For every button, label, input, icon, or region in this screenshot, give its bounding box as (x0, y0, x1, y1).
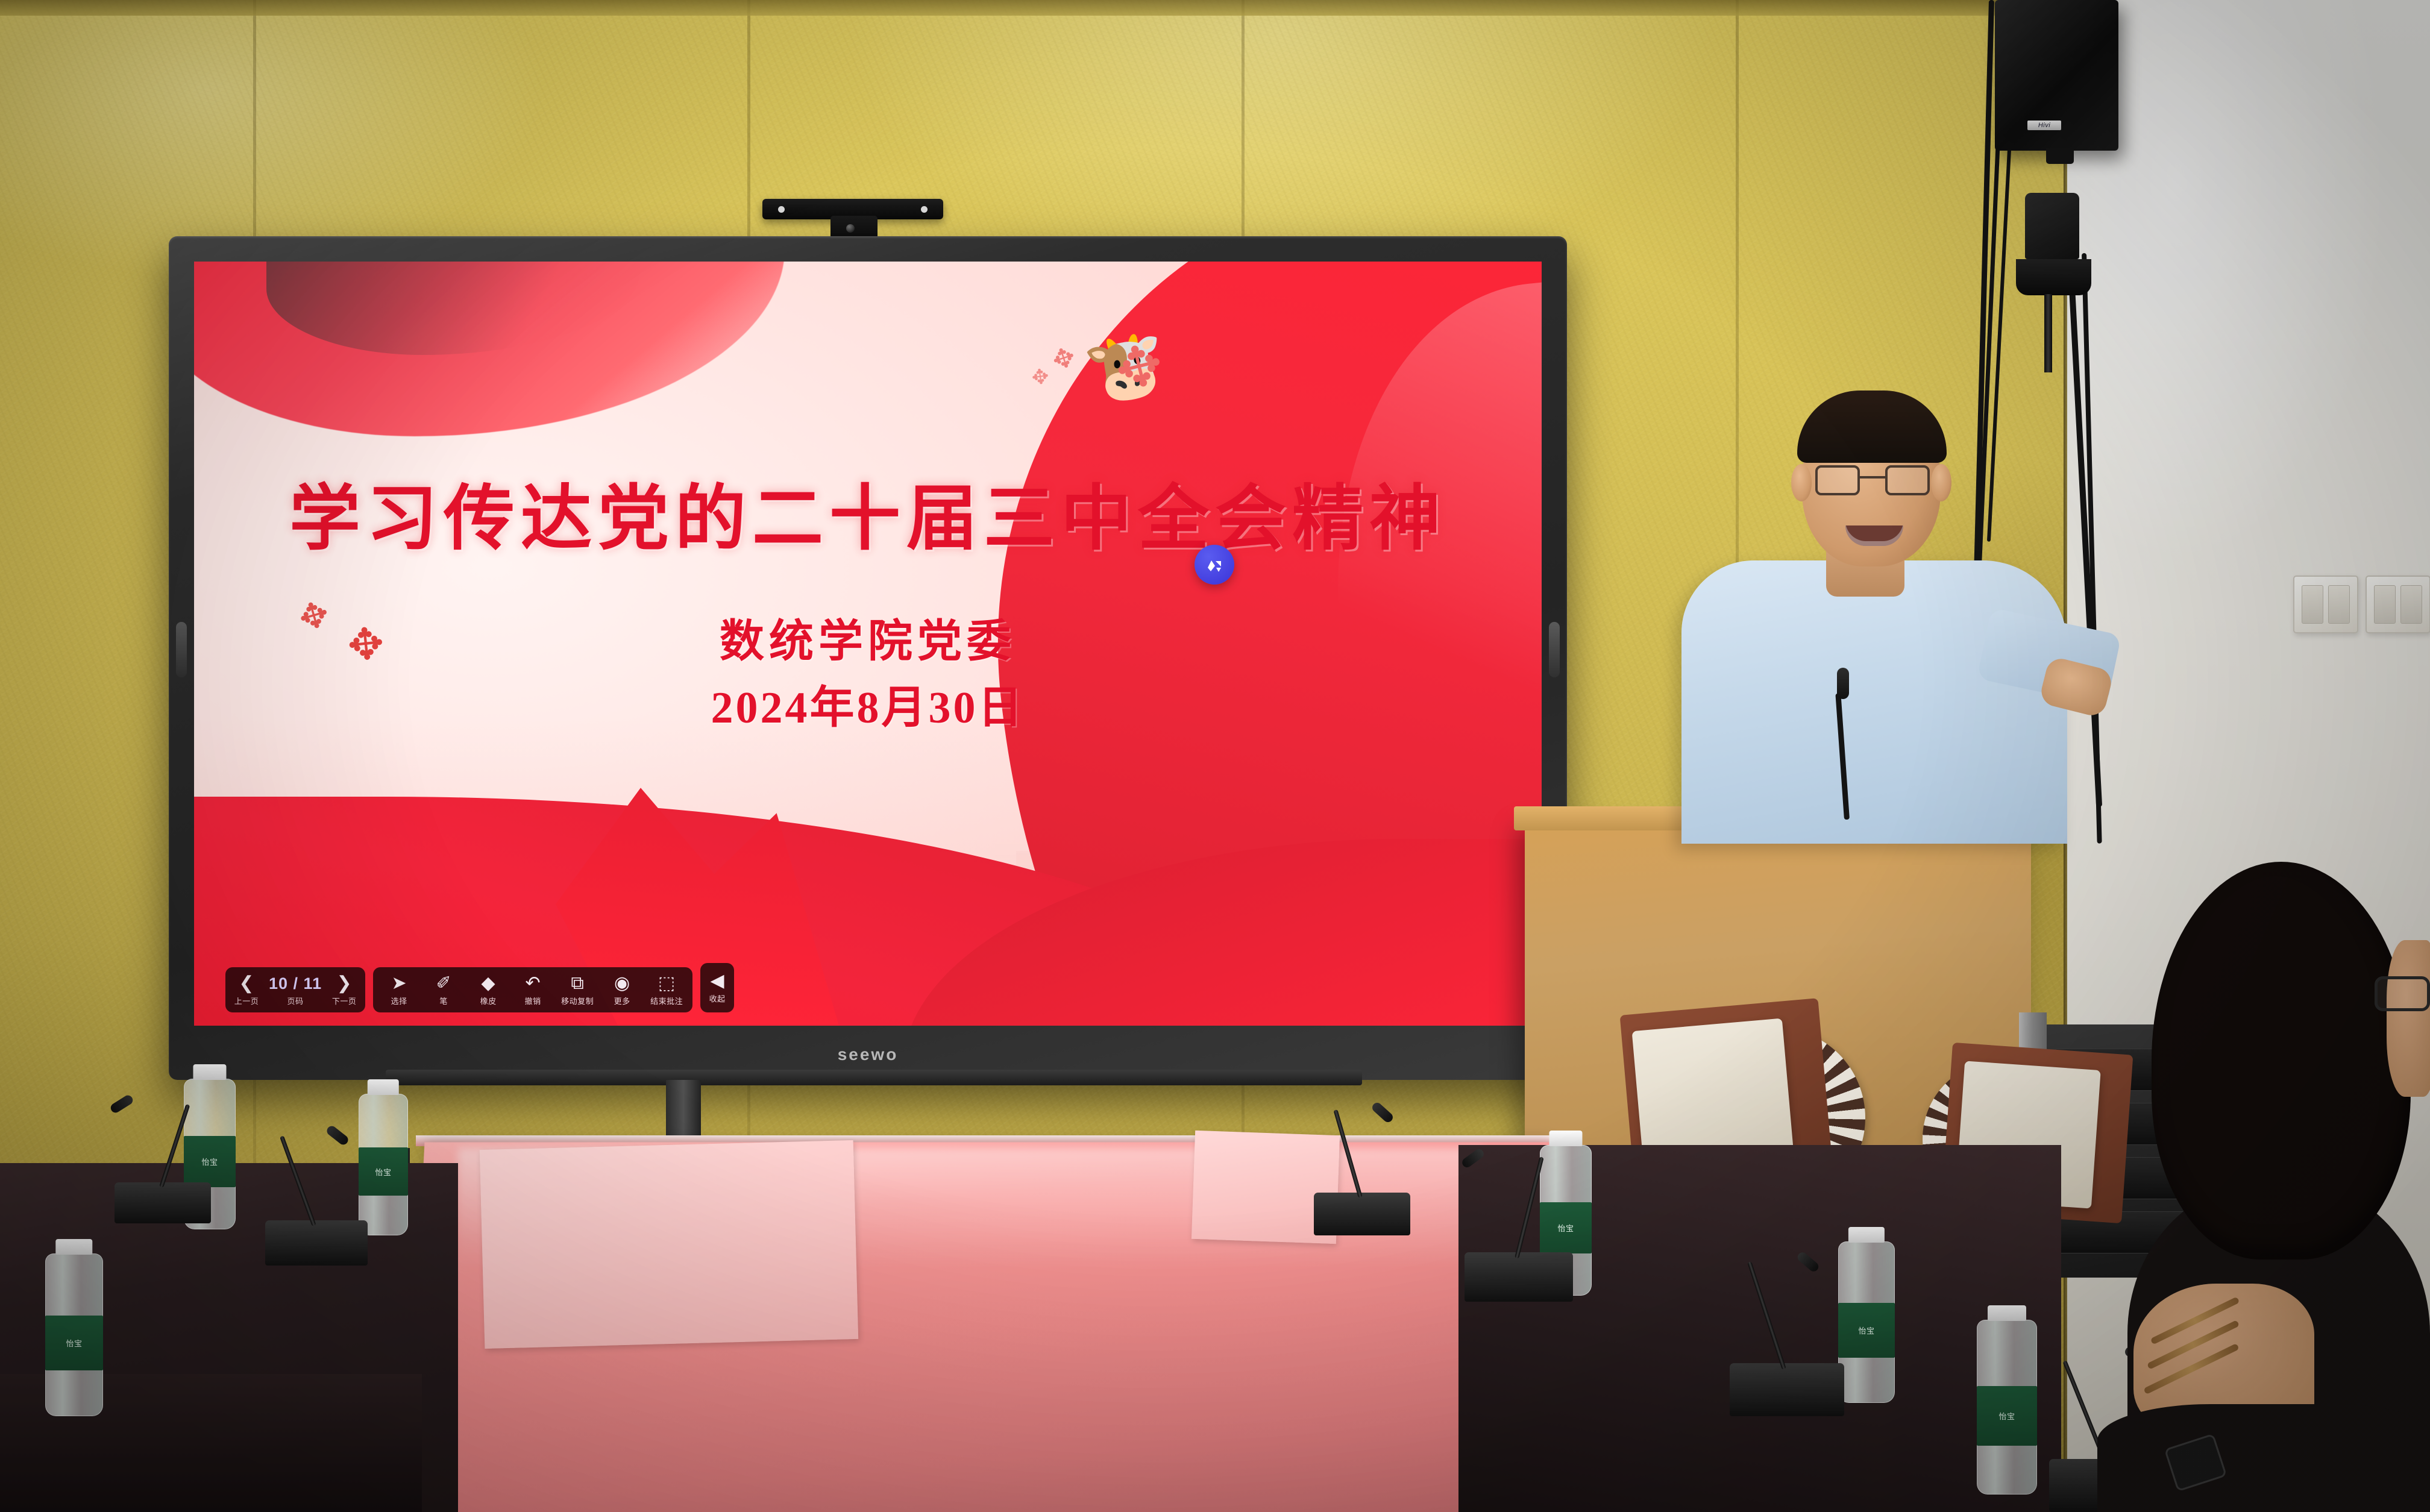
display-side-button[interactable] (176, 622, 187, 677)
chevron-right-icon: ❯ (337, 974, 352, 993)
podium-microphone-head (1837, 668, 1849, 699)
microphone-gooseneck (1748, 1261, 1787, 1370)
bottle-brand-text: 怡宝 (1998, 1410, 2015, 1422)
tool-exit-annotation-button[interactable]: ⬚ 结束批注 (644, 971, 689, 1008)
dove-icon: ✥ (1049, 343, 1079, 375)
tool-pen-label: 笔 (439, 995, 448, 1006)
microphone-base (1730, 1363, 1844, 1416)
tool-select-button[interactable]: ➤ 选择 (377, 971, 421, 1008)
presenter-shirt (1681, 560, 2067, 844)
display-side-button[interactable] (1549, 622, 1560, 677)
annotation-toolbar[interactable]: ❮ 上一页 10 / 11 页码 ❯ 下一页 (225, 963, 734, 1012)
camera-lens-icon (846, 224, 855, 233)
undo-icon: ↶ (526, 974, 541, 993)
exit-annotation-icon: ⬚ (658, 974, 675, 993)
ceiling-mic-pod (2025, 193, 2079, 259)
light-switch-plate[interactable] (2366, 576, 2430, 633)
bottle-brand-text: 怡宝 (66, 1337, 82, 1349)
display-screen[interactable]: 🐮 ✥ ✥ ✥ ✥ ✥ 学习传达党的二十届三中全会精神 数统学院党委 2024年… (194, 262, 1542, 1026)
water-bottle[interactable]: 怡宝 (1838, 1241, 1895, 1403)
water-bottle[interactable]: 怡宝 (1977, 1320, 2037, 1495)
bottle-cap (1988, 1305, 2026, 1321)
bottle-cap (55, 1239, 92, 1255)
seated-person-face (2387, 940, 2430, 1097)
conference-microphone[interactable] (1465, 1157, 1573, 1302)
chevron-left-icon: ❮ (239, 974, 254, 993)
microphone-gooseneck (1333, 1109, 1362, 1198)
display-brand-label: seewo (838, 1045, 899, 1064)
microphone-gooseneck (159, 1104, 190, 1188)
meeting-room-scene: Hivi seewo (0, 0, 2430, 1512)
collapse-left-icon: ◀ (711, 971, 724, 991)
microphone-gooseneck (280, 1135, 316, 1226)
tools-group[interactable]: ➤ 选择 ✐ 笔 ◆ 橡皮 (373, 967, 692, 1012)
bottle-cap (1549, 1131, 1582, 1146)
tool-exit-annotation-label: 结束批注 (650, 995, 683, 1006)
next-page-label: 下一页 (332, 995, 357, 1006)
light-switch-rocker[interactable] (2328, 585, 2350, 624)
dove-icon: ✥ (1031, 366, 1050, 389)
glasses-bridge (1860, 476, 1885, 478)
collapse-toolbar-label: 收起 (709, 993, 726, 1004)
paper-document[interactable] (480, 1140, 858, 1349)
speaker-bracket (2046, 148, 2074, 164)
bottle-brand-text: 怡宝 (375, 1166, 391, 1178)
interactive-display[interactable]: seewo (169, 236, 1567, 1080)
presentation-slide[interactable]: 🐮 ✥ ✥ ✥ ✥ ✥ 学习传达党的二十届三中全会精神 数统学院党委 2024年… (194, 262, 1542, 1026)
glasses-right-lens (1885, 465, 1930, 495)
presenter-ear (1931, 464, 1951, 501)
bottle-cap (368, 1079, 399, 1095)
microphone-base (1314, 1193, 1410, 1235)
bottle-cap (193, 1064, 226, 1080)
light-switch-rocker[interactable] (2302, 585, 2323, 624)
next-page-button[interactable]: ❯ 下一页 (327, 971, 362, 1008)
display-stand-beam (386, 1070, 1362, 1085)
seated-person-hair (2152, 862, 2411, 1259)
microphone-base (265, 1220, 368, 1266)
prev-page-label: 上一页 (234, 995, 259, 1006)
conference-microphone[interactable] (1730, 1259, 1844, 1416)
cursor-select-icon: ➤ (392, 974, 407, 993)
seated-person-glasses (2375, 976, 2430, 1011)
ceiling-trim (0, 0, 2067, 16)
tool-undo-button[interactable]: ↶ 撤销 (510, 971, 555, 1008)
presenter-ear (1791, 464, 1812, 501)
tool-eraser-button[interactable]: ◆ 橡皮 (466, 971, 510, 1008)
page-indicator-label: 页码 (287, 995, 304, 1006)
microphone-base (115, 1182, 211, 1223)
microphone-gooseneck (1515, 1156, 1544, 1258)
bottle-label: 怡宝 (45, 1316, 103, 1371)
bottle-label: 怡宝 (1838, 1303, 1895, 1358)
wall-speaker: Hivi (1995, 0, 2118, 151)
prev-page-button[interactable]: ❮ 上一页 (229, 971, 264, 1008)
light-switch-rocker[interactable] (2400, 585, 2422, 624)
seated-person-shoulder (2097, 1404, 2430, 1512)
tool-move-copy-label: 移动复制 (561, 995, 594, 1006)
conference-microphone[interactable] (115, 1103, 211, 1223)
tool-undo-label: 撤销 (525, 995, 541, 1006)
light-switch-plate[interactable] (2293, 576, 2358, 633)
display-bezel: seewo (169, 236, 1567, 1080)
microphone-base (1465, 1252, 1573, 1302)
tool-select-label: 选择 (391, 995, 407, 1006)
page-nav-group[interactable]: ❮ 上一页 10 / 11 页码 ❯ 下一页 (225, 967, 365, 1012)
bottle-cap (1848, 1227, 1885, 1243)
ceiling-mic-arm (2044, 294, 2052, 372)
tool-more-label: 更多 (614, 995, 630, 1006)
water-bottle[interactable]: 怡宝 (45, 1253, 103, 1416)
collapse-toolbar-button[interactable]: ◀ 收起 (700, 963, 734, 1012)
tool-pen-button[interactable]: ✐ 笔 (421, 971, 466, 1008)
bottle-label: 怡宝 (1977, 1386, 2037, 1446)
more-icon: ◉ (614, 974, 630, 993)
slide-subtitle: 数统学院党委 (194, 605, 1542, 670)
tool-move-copy-button[interactable]: ⧉ 移动复制 (555, 971, 600, 1008)
eraser-icon: ◆ (482, 974, 495, 993)
conference-microphone[interactable] (1314, 1109, 1410, 1235)
tool-more-button[interactable]: ◉ 更多 (600, 971, 644, 1008)
glasses-left-lens (1815, 465, 1860, 495)
speaker-brand-badge: Hivi (2027, 121, 2061, 130)
slide-title: 学习传达党的二十届三中全会精神 (194, 460, 1542, 563)
bottle-brand-text: 怡宝 (1858, 1325, 1874, 1336)
slide-date: 2024年8月30日 (194, 671, 1542, 736)
tool-eraser-label: 橡皮 (480, 995, 497, 1006)
conference-microphone[interactable] (265, 1133, 368, 1266)
move-copy-icon: ⧉ (571, 974, 583, 993)
page-indicator-value: 10 / 11 (269, 974, 322, 993)
ceiling-mic-pod-base (2016, 259, 2091, 295)
wps-office-icon[interactable] (1195, 545, 1234, 585)
light-switch-rocker[interactable] (2374, 585, 2396, 624)
pen-icon: ✐ (436, 974, 451, 993)
page-indicator[interactable]: 10 / 11 页码 (264, 972, 327, 1008)
